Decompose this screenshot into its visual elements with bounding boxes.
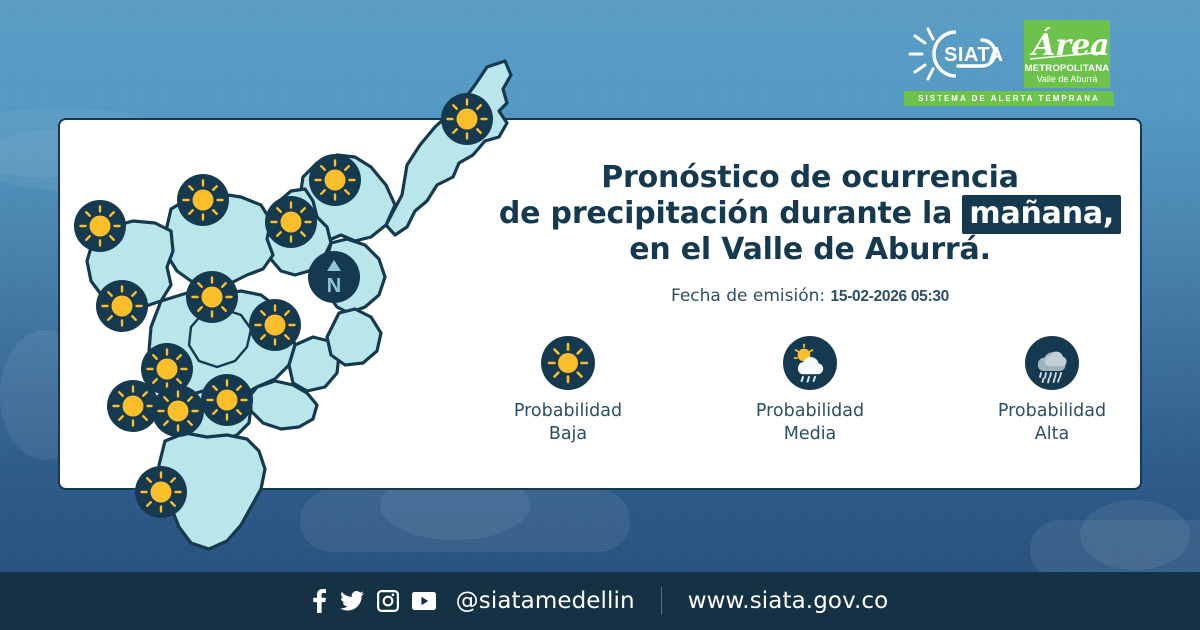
legend-label-baja-l1: Probabilidad <box>493 400 643 423</box>
legend: Probabilidad Baja <box>478 336 1142 446</box>
legend-label-baja-l2: Baja <box>493 423 643 446</box>
siata-logo[interactable]: SIATA Área METROPOLITANA Valle de Aburrá… <box>904 20 1124 112</box>
legend-label-media-l2: Media <box>735 423 885 446</box>
area-script-icon: Área <box>1024 22 1110 66</box>
headline-line-3: en el Valle de Aburrá. <box>478 232 1142 268</box>
footer: @siatamedellin www.siata.gov.co <box>0 572 1200 630</box>
sun-icon <box>541 336 595 390</box>
legend-item-media[interactable]: Probabilidad Media <box>735 336 885 446</box>
page-title: Pronóstico de ocurrencia de precipitació… <box>478 160 1142 268</box>
siata-sun-cloud-icon: SIATA <box>904 20 1024 88</box>
headline-line-2: de precipitación durante la mañana, <box>478 196 1142 232</box>
legend-label-alta-l2: Alta <box>977 423 1127 446</box>
legend-label-alta: Probabilidad Alta <box>977 400 1127 446</box>
cloud-rain-icon <box>1025 336 1079 390</box>
instagram-icon[interactable] <box>377 590 399 612</box>
legend-label-alta-l1: Probabilidad <box>977 400 1127 423</box>
youtube-icon[interactable] <box>412 592 436 610</box>
area-line-2: Valle de Aburrá <box>1037 74 1098 84</box>
legend-label-media: Probabilidad Media <box>735 400 885 446</box>
background-cloud-6 <box>1080 500 1190 570</box>
infographic-canvas: N Pronóstico de ocurrencia de precipitac… <box>0 0 1200 630</box>
social-handle[interactable]: @siatamedellin <box>456 588 635 614</box>
sun-cloud-rain-icon <box>783 336 837 390</box>
issue-date: Fecha de emisión: 15-02-2026 05:30 <box>478 286 1142 306</box>
alerta-temprana-banner: SISTEMA DE ALERTA TEMPRANA <box>904 91 1114 106</box>
legend-label-baja: Probabilidad Baja <box>493 400 643 446</box>
website-url[interactable]: www.siata.gov.co <box>688 588 889 614</box>
area-metropolitana-logo: Área METROPOLITANA Valle de Aburrá <box>1024 20 1110 88</box>
headline-line-2-text: de precipitación durante la <box>499 196 963 231</box>
social-links <box>312 589 436 613</box>
headline-highlight: mañana, <box>962 195 1121 234</box>
legend-label-media-l1: Probabilidad <box>735 400 885 423</box>
forecast-content: Pronóstico de ocurrencia de precipitació… <box>478 160 1142 446</box>
footer-divider <box>661 587 662 615</box>
svg-text:SIATA: SIATA <box>944 44 1004 66</box>
issue-date-value: 15-02-2026 05:30 <box>831 288 949 305</box>
legend-item-alta[interactable]: Probabilidad Alta <box>977 336 1127 446</box>
headline-line-1: Pronóstico de ocurrencia <box>478 160 1142 196</box>
legend-item-baja[interactable]: Probabilidad Baja <box>493 336 643 446</box>
twitter-icon[interactable] <box>340 591 364 611</box>
facebook-icon[interactable] <box>312 589 327 613</box>
issue-date-label: Fecha de emisión: <box>671 286 825 306</box>
